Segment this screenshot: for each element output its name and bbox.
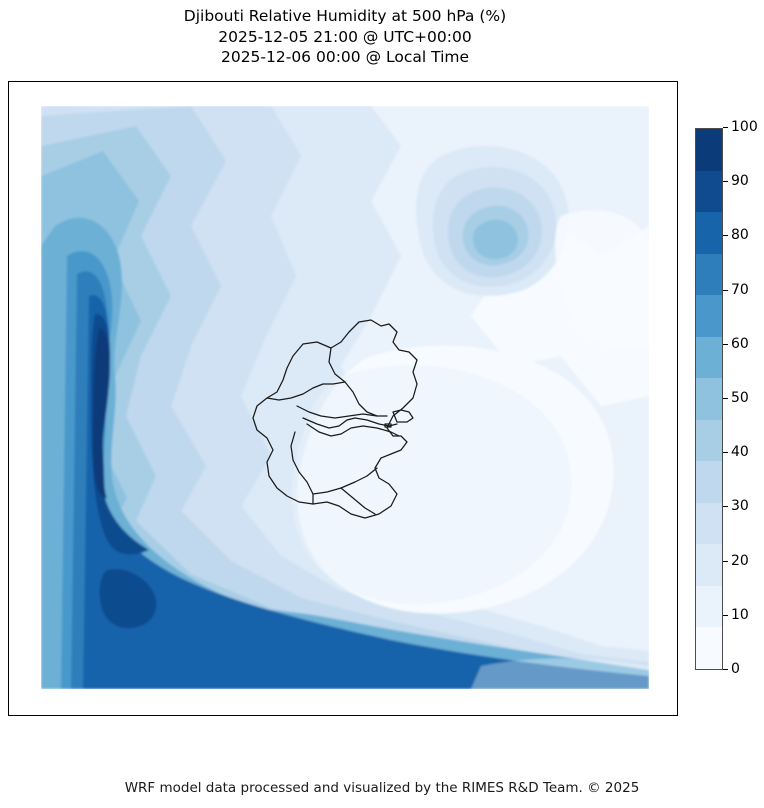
colorbar-tick-label: 30 xyxy=(731,498,749,515)
colorbar-tick-mark xyxy=(723,452,728,453)
colorbar-tick-mark xyxy=(723,615,728,616)
colorbar-tick-mark xyxy=(723,506,728,507)
colorbar-band xyxy=(696,254,722,296)
country-outline-djibouti xyxy=(253,320,417,518)
colorbar-tick-label: 50 xyxy=(731,390,749,407)
colorbar-tick-mark xyxy=(723,344,728,345)
colorbar-tick-label: 0 xyxy=(731,661,740,678)
colorbar-tick-label: 40 xyxy=(731,444,749,461)
page-title: Djibouti Relative Humidity at 500 hPa (%… xyxy=(0,6,690,27)
colorbar-band xyxy=(696,627,722,669)
colorbar-band xyxy=(696,461,722,503)
admin-boundary-west xyxy=(267,382,345,400)
colorbar-band xyxy=(696,544,722,586)
footer-credit: WRF model data processed and visualized … xyxy=(0,780,764,796)
colorbar-band xyxy=(696,295,722,337)
colorbar-band xyxy=(696,171,722,213)
colorbar-band xyxy=(696,503,722,545)
map-plot-area[interactable] xyxy=(41,106,649,689)
title-subtitle-utc: 2025-12-05 21:00 @ UTC+00:00 xyxy=(0,27,690,48)
colorbar-ticks: 0102030405060708090100 xyxy=(723,128,764,670)
admin-boundary-north xyxy=(329,348,387,416)
colorbar-tick-label: 60 xyxy=(731,336,749,353)
colorbar-band xyxy=(696,420,722,462)
colorbar-tick-label: 20 xyxy=(731,553,749,570)
coast-detail-east xyxy=(393,410,413,422)
colorbar: 0102030405060708090100 xyxy=(695,128,723,670)
colorbar-tick-label: 80 xyxy=(731,227,749,244)
admin-boundary-south xyxy=(313,468,377,494)
colorbar-tick-mark xyxy=(723,290,728,291)
colorbar-tick-mark xyxy=(723,127,728,128)
colorbar-band xyxy=(696,337,722,379)
colorbar-band xyxy=(696,129,722,171)
map-frame: RIMES xyxy=(8,81,678,716)
colorbar-tick-mark xyxy=(723,181,728,182)
colorbar-tick-label: 100 xyxy=(731,119,758,136)
title-subtitle-local: 2025-12-06 00:00 @ Local Time xyxy=(0,47,690,68)
gulf-of-tadjoura xyxy=(303,418,397,428)
admin-boundary-gulf-north xyxy=(297,406,377,418)
colorbar-tick-label: 10 xyxy=(731,607,749,624)
colorbar-band xyxy=(696,378,722,420)
colorbar-gradient xyxy=(695,128,723,670)
admin-boundary-center xyxy=(291,432,313,504)
colorbar-tick-label: 70 xyxy=(731,282,749,299)
djibouti-boundary-overlay xyxy=(41,106,649,689)
colorbar-band xyxy=(696,586,722,628)
colorbar-tick-mark xyxy=(723,669,728,670)
colorbar-tick-mark xyxy=(723,561,728,562)
colorbar-tick-label: 90 xyxy=(731,173,749,190)
colorbar-tick-mark xyxy=(723,235,728,236)
colorbar-band xyxy=(696,212,722,254)
chart-title-block: Djibouti Relative Humidity at 500 hPa (%… xyxy=(0,6,690,68)
colorbar-tick-mark xyxy=(723,398,728,399)
